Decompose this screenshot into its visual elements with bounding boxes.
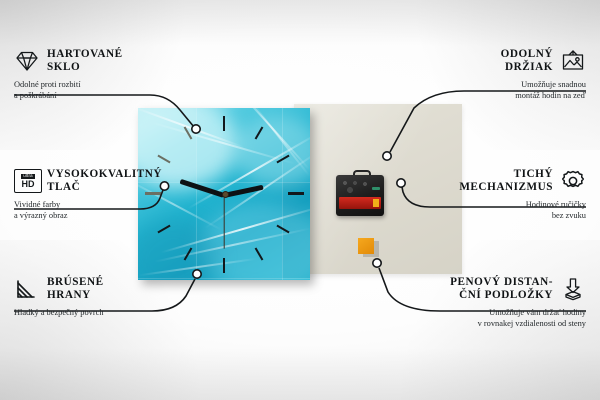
feature-title: BRÚSENÉ HRANY: [47, 276, 104, 303]
feature-high-quality-print: ultra HD VYSOKOKVALITNÝ TLAČ Vividné far…: [14, 168, 182, 221]
picture-frame-icon: [560, 49, 586, 73]
feature-title: VYSOKOKVALITNÝ TLAČ: [47, 168, 162, 195]
feature-description: Umožňuje vám držať hodiny v rovnakej vzd…: [418, 307, 586, 329]
ultra-hd-icon: ultra HD: [14, 169, 40, 193]
movement-label: [372, 187, 380, 190]
feature-description: Hodinové ručičky bez zvuku: [418, 199, 586, 221]
bottom-gradient-band: [0, 348, 600, 400]
battery: [339, 197, 381, 209]
feature-description: Umožňuje snadnou montáž hodin na zeď: [418, 79, 586, 101]
infographic-canvas: HARTOVANÉ SKLO Odolné proti rozbití a po…: [0, 0, 600, 400]
top-gradient-band: [0, 0, 600, 46]
feature-foam-spacers: PENOVÝ DISTAN- ČNÍ PODLOŽKY Umožňuje vám…: [418, 276, 586, 329]
feature-ground-edges: BRÚSENÉ HRANY Hladký a bezpečný povrch: [14, 276, 182, 318]
feature-description: Vividné farby a výrazný obraz: [14, 199, 182, 221]
feature-tempered-glass: HARTOVANÉ SKLO Odolné proti rozbití a po…: [14, 48, 182, 101]
feature-silent-mechanism: TICHÝ MECHANIZMUS Hodinové ručičky bez z…: [418, 168, 586, 221]
feature-title: TICHÝ MECHANIZMUS: [459, 168, 553, 195]
feature-title: PENOVÝ DISTAN- ČNÍ PODLOŽKY: [450, 276, 553, 303]
clock-movement-mechanism: [336, 170, 384, 216]
foam-spacer-pad: [358, 238, 377, 257]
movement-detail: [341, 179, 371, 193]
feature-title: HARTOVANÉ SKLO: [47, 48, 123, 75]
feature-durable-holder: ODOLNÝ DRŽIAK Umožňuje snadnou montáž ho…: [418, 48, 586, 101]
diamond-icon: [14, 49, 40, 73]
gear-icon: [560, 169, 586, 193]
down-arrow-pad-icon: [560, 277, 586, 301]
clock-center-hub: [222, 191, 229, 198]
hd-label: HD: [22, 180, 35, 189]
diagonal-lines-icon: [14, 277, 40, 301]
feature-description: Odolné proti rozbití a poškrábání: [14, 79, 182, 101]
feature-description: Hladký a bezpečný povrch: [14, 307, 182, 318]
feature-title: ODOLNÝ DRŽIAK: [501, 48, 553, 75]
clock-second-hand: [223, 195, 224, 249]
